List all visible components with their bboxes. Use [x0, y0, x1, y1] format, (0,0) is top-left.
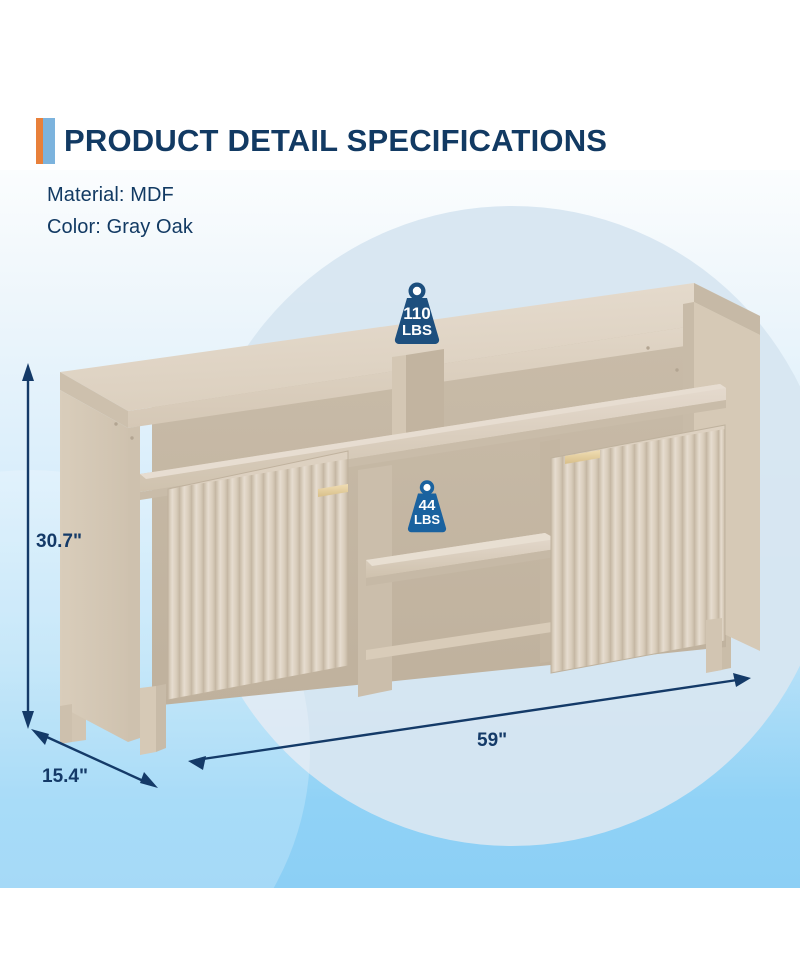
- dimension-label-height: 30.7": [36, 531, 82, 553]
- dimension-label-width: 59": [477, 730, 507, 752]
- product-spec-page: PRODUCT DETAIL SPECIFICATIONS Material: …: [0, 0, 800, 977]
- weight-badge-shelf: 44 LBS: [401, 479, 453, 533]
- weight-badge-number: 44: [401, 498, 453, 513]
- dimension-label-depth: 15.4": [42, 766, 88, 788]
- weight-badge-top: 110 LBS: [386, 281, 448, 345]
- weight-badge-unit: LBS: [401, 513, 453, 526]
- weight-badge-number: 110: [386, 305, 448, 322]
- weight-badge-unit: LBS: [386, 323, 448, 338]
- product-illustration: [0, 0, 800, 977]
